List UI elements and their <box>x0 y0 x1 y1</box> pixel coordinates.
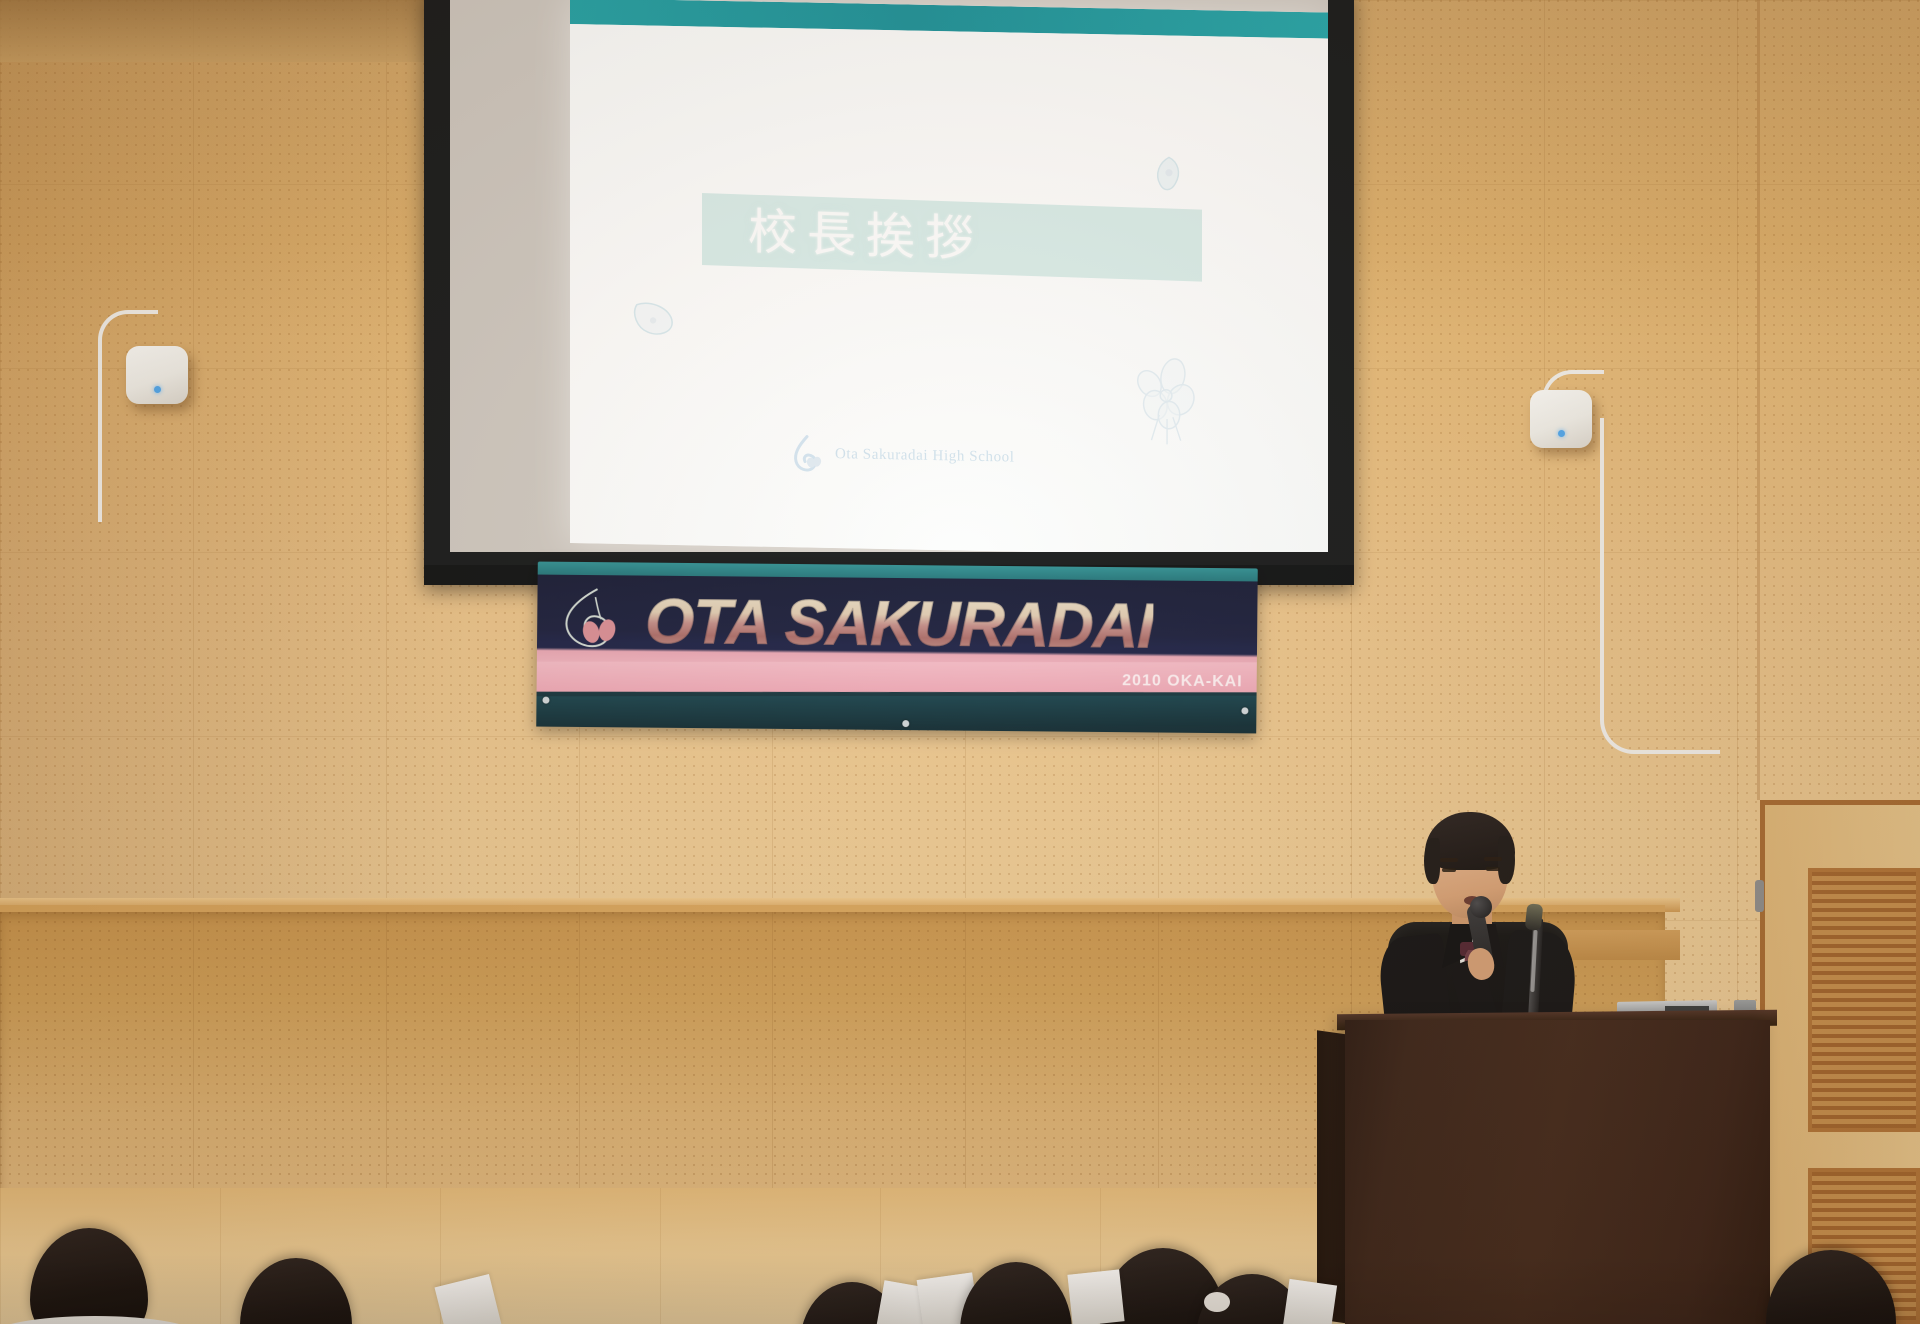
audience-program-paper <box>1283 1279 1337 1324</box>
wall-speaker-left <box>0 300 260 560</box>
projected-slide: 校長挨拶 Ota Sakuradai High School <box>570 0 1328 552</box>
speaker-body <box>1530 390 1592 448</box>
door-hinge <box>1755 880 1764 912</box>
door-louver-panel-upper <box>1808 868 1920 1132</box>
banner-grommet <box>902 720 909 727</box>
banner-cherry-logo-icon <box>557 585 638 658</box>
banner-body: OTA SAKURADAI 2010 OKA-KAI <box>536 575 1257 734</box>
speaker-body <box>126 346 188 404</box>
ceiling-shadow <box>0 0 470 62</box>
auditorium-scene: 校長挨拶 Ota Sakuradai High School <box>0 0 1920 1324</box>
speaker-cable-drop <box>1600 418 1604 708</box>
banner-grommet <box>1241 707 1248 714</box>
slide-footer: Ota Sakuradai High School <box>792 434 1015 476</box>
banner-teal-stripe <box>536 696 1257 727</box>
speaker-led <box>154 386 161 393</box>
speaker-cable-bend <box>1600 698 1720 754</box>
slide-footer-text: Ota Sakuradai High School <box>835 446 1015 466</box>
speaker-hair-side-left <box>1424 838 1440 884</box>
audience-hair-tie <box>1204 1292 1230 1312</box>
podium <box>1345 1020 1770 1324</box>
speaker-eye-left <box>1442 868 1456 872</box>
stage-right-step <box>1560 930 1680 960</box>
banner-subtitle: 2010 OKA-KAI <box>1122 672 1243 691</box>
event-banner: OTA SAKURADAI 2010 OKA-KAI <box>536 562 1258 734</box>
speaker-eyebrow-left <box>1440 858 1458 862</box>
audience-program-paper <box>1067 1269 1124 1324</box>
banner-title: OTA SAKURADAI <box>645 588 1154 661</box>
speaker-person <box>1380 800 1570 1040</box>
speaker-eye-right <box>1486 867 1500 871</box>
school-logo-icon <box>792 434 822 473</box>
speaker-led <box>1558 430 1565 437</box>
banner-grommet <box>542 697 549 704</box>
projection-screen-surface: 校長挨拶 Ota Sakuradai High School <box>450 0 1328 552</box>
projection-screen-frame: 校長挨拶 Ota Sakuradai High School <box>424 0 1354 585</box>
microphone-stand-tip <box>1525 903 1544 931</box>
speaker-cable-drop <box>98 362 102 522</box>
speaker-eyebrow-right <box>1484 857 1502 861</box>
petal-outline-icon <box>631 299 677 338</box>
cherry-blossom-outline-icon <box>1130 354 1208 447</box>
petal-outline-icon <box>1151 154 1187 195</box>
